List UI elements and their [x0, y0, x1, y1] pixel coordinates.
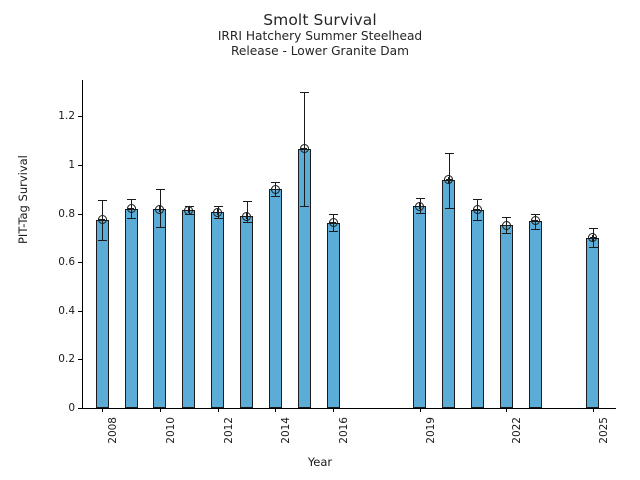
title-block: Smolt Survival IRRI Hatchery Summer Stee… — [0, 11, 640, 58]
y-tick-mark — [78, 408, 82, 409]
error-bar-cap-upper — [416, 198, 425, 199]
y-tick-label: 0.2 — [58, 353, 75, 365]
x-tick-label: 2019 — [425, 417, 437, 444]
error-bar-cap-lower — [589, 247, 598, 248]
x-tick-mark — [506, 408, 507, 412]
error-bar-cap-upper — [589, 228, 598, 229]
y-tick-mark — [78, 311, 82, 312]
x-tick-label: 2022 — [511, 417, 523, 444]
y-tick-label: 0 — [68, 402, 75, 414]
x-axis-label: Year — [0, 455, 640, 469]
data-point-marker — [300, 144, 309, 153]
bar — [413, 206, 426, 408]
chart-subtitle-line-2: Release - Lower Granite Dam — [0, 44, 640, 58]
error-bar-cap-lower — [300, 206, 309, 207]
y-tick-label: 0.4 — [58, 305, 75, 317]
x-tick-label: 2008 — [107, 417, 119, 444]
bar — [500, 225, 513, 408]
bar — [182, 210, 195, 408]
plot-area: 00.20.40.60.811.2 2008201020122014201620… — [82, 80, 616, 408]
error-bar-cap-lower — [127, 218, 136, 219]
x-tick-mark — [102, 408, 103, 412]
data-point-marker — [242, 212, 251, 221]
y-tick-mark — [78, 116, 82, 117]
y-tick-mark — [78, 359, 82, 360]
error-bar-cap-upper — [329, 214, 338, 215]
error-bar-cap-upper — [502, 217, 511, 218]
data-point-marker — [127, 204, 136, 213]
x-tick-mark — [218, 408, 219, 412]
chart-figure: Smolt Survival IRRI Hatchery Summer Stee… — [0, 0, 640, 480]
y-tick-mark — [78, 165, 82, 166]
y-axis-label: PIT-Tag Survival — [16, 155, 30, 244]
bar — [240, 216, 253, 408]
bar — [442, 180, 455, 408]
chart-subtitle-line-1: IRRI Hatchery Summer Steelhead — [0, 29, 640, 43]
error-bar-cap-upper — [271, 182, 280, 183]
error-bar-cap-upper — [243, 201, 252, 202]
y-tick-label: 1 — [68, 159, 75, 171]
x-tick-mark — [420, 408, 421, 412]
error-bar-cap-upper — [445, 153, 454, 154]
x-tick-mark — [275, 408, 276, 412]
error-bar-cap-lower — [243, 222, 252, 223]
x-tick-label: 2012 — [223, 417, 235, 444]
error-bar-cap-upper — [531, 214, 540, 215]
bar — [125, 209, 138, 408]
y-tick-mark — [78, 262, 82, 263]
error-bar-cap-upper — [98, 200, 107, 201]
y-tick-label: 0.8 — [58, 208, 75, 220]
bar — [327, 223, 340, 408]
data-point-marker — [213, 208, 222, 217]
data-point-marker — [329, 218, 338, 227]
error-bar-cap-lower — [156, 227, 165, 228]
bar — [529, 221, 542, 408]
error-bar-cap-lower — [445, 208, 454, 209]
x-tick-label: 2016 — [338, 417, 350, 444]
bar — [211, 212, 224, 408]
page-title: Smolt Survival — [0, 11, 640, 29]
x-tick-mark — [333, 408, 334, 412]
error-bar-cap-upper — [473, 199, 482, 200]
error-bar-cap-lower — [329, 231, 338, 232]
error-bar-cap-lower — [416, 213, 425, 214]
x-tick-mark — [593, 408, 594, 412]
y-tick-label: 0.6 — [58, 256, 75, 268]
error-bar-cap-lower — [271, 196, 280, 197]
bar — [153, 209, 166, 408]
bar — [586, 238, 599, 408]
y-tick-label: 1.2 — [58, 110, 75, 122]
data-point-marker — [415, 202, 424, 211]
y-tick-mark — [78, 214, 82, 215]
data-point-marker — [271, 185, 280, 194]
error-bar-cap-lower — [214, 218, 223, 219]
error-bar-cap-lower — [502, 233, 511, 234]
x-tick-label: 2014 — [280, 417, 292, 444]
bar — [471, 210, 484, 408]
error-bar-cap-upper — [156, 189, 165, 190]
bar — [96, 220, 109, 408]
data-point-marker — [98, 215, 107, 224]
x-tick-label: 2010 — [165, 417, 177, 444]
data-point-marker — [502, 221, 511, 230]
x-tick-label: 2025 — [598, 417, 610, 444]
x-axis-spine — [82, 408, 616, 409]
error-bar-cap-lower — [473, 220, 482, 221]
error-bar-cap-lower — [531, 229, 540, 230]
x-tick-mark — [160, 408, 161, 412]
error-bar-cap-lower — [98, 240, 107, 241]
error-bar-cap-upper — [127, 199, 136, 200]
bar — [269, 189, 282, 408]
error-bar-cap-upper — [300, 92, 309, 93]
